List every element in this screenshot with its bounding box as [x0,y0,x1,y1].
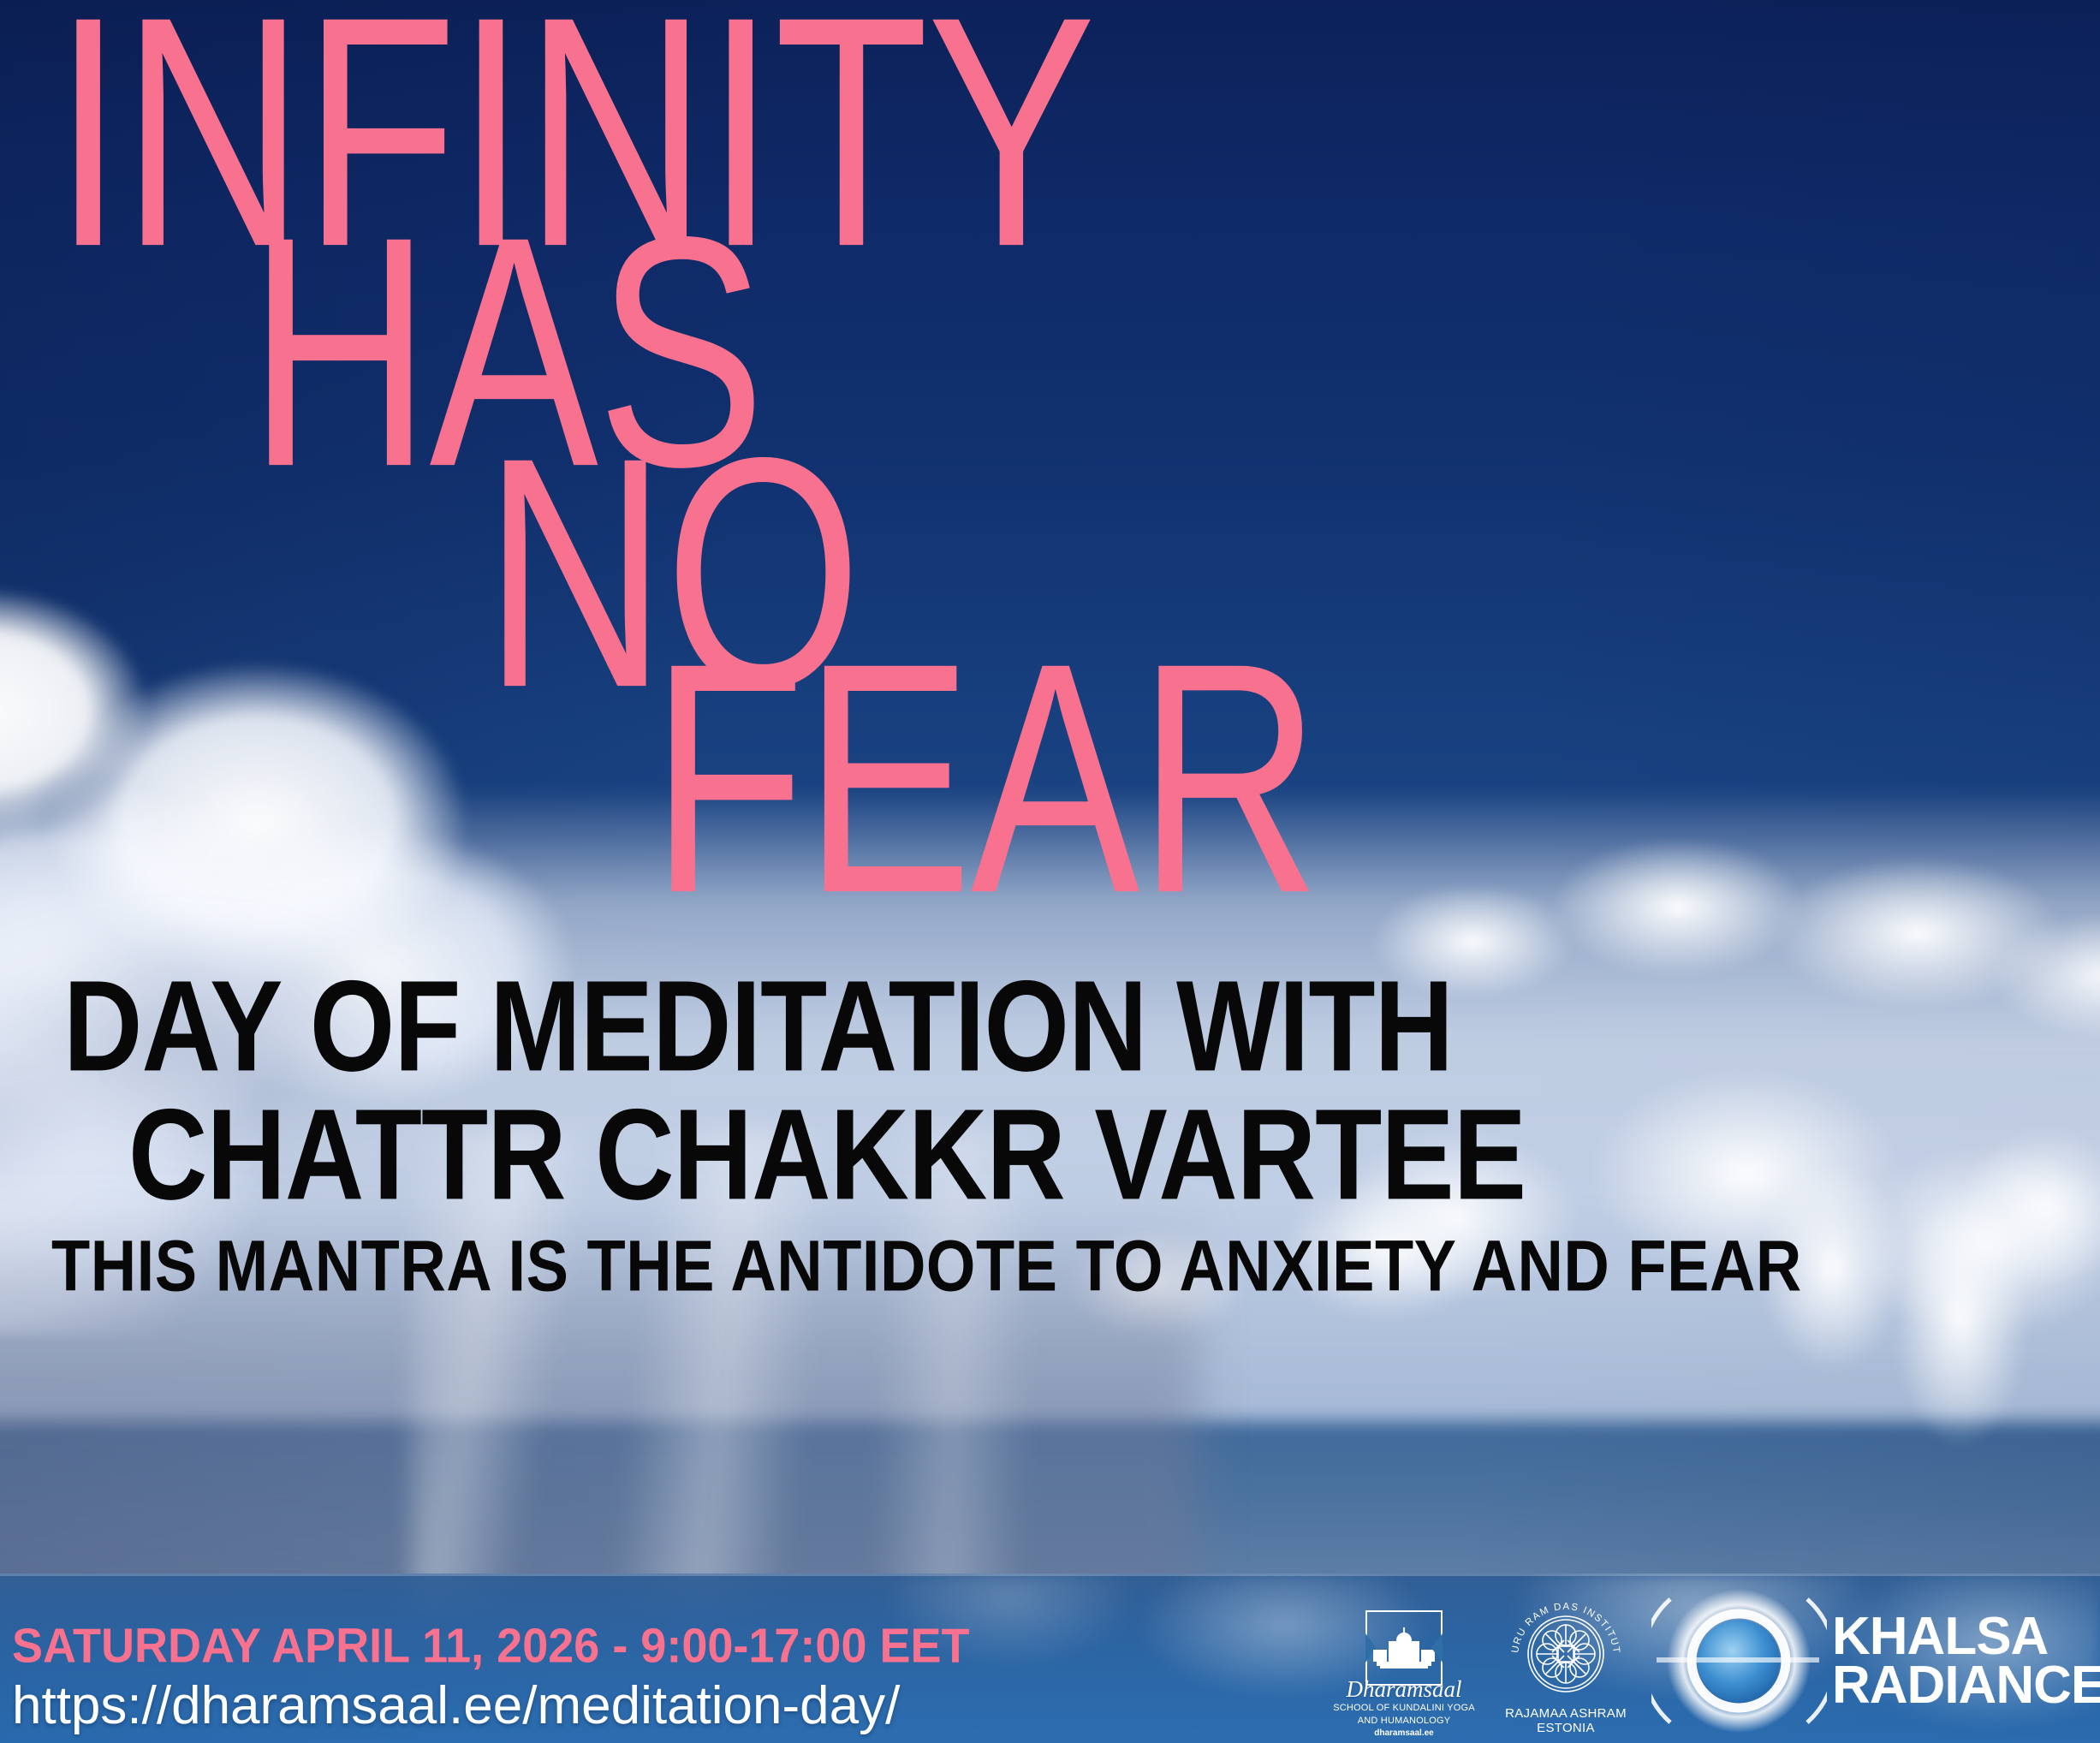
logo-dharamsaal-subtitle-2: AND HUMANOLOGY [1358,1716,1451,1727]
event-datetime: SATURDAY APRIL 11, 2026 - 9:00-17:00 EET [12,1618,970,1674]
event-title-line-2: CHATTR CHAKKR VARTEE [128,1096,1526,1215]
event-title-line-1: DAY OF MEDITATION WITH [63,967,1453,1086]
logo-guru-ram-das-institute[interactable]: GURU RAM DAS INSTITUTE [1480,1582,1651,1743]
logo-grd-subtitle-2: ESTONIA [1537,1722,1595,1736]
event-url-link[interactable]: https://dharamsaal.ee/meditation-day/ [12,1675,970,1736]
logo-khalsa-radiance[interactable]: KHALSA RADIANCE [1651,1582,2093,1743]
logo-dharamsaal-website: dharamsaal.ee [1374,1728,1434,1738]
headline-line-4: FEAR [651,651,1319,907]
event-tagline: THIS MANTRA IS THE ANTIDOTE TO ANXIETY A… [51,1233,1802,1300]
mandala-knot-icon: GURU RAM DAS INSTITUTE [1509,1597,1622,1710]
logo-khalsa-word-2: RADIANCE [1832,1661,2100,1710]
poster-canvas: INFINITY HAS NO FEAR DAY OF MEDITATION W… [0,0,2100,1743]
logo-khalsa-word-1: KHALSA [1832,1612,2100,1661]
logo-dharamsaal-subtitle-1: SCHOOL OF KUNDALINI YOGA [1333,1703,1475,1714]
radiant-orb-icon [1651,1580,1827,1741]
footer-text-block: SATURDAY APRIL 11, 2026 - 9:00-17:00 EET… [12,1621,970,1736]
sponsor-logo-row: Dharamsaal SCHOOL OF KUNDALINI YOGA AND … [1328,1573,2093,1743]
logo-dharamsaal[interactable]: Dharamsaal SCHOOL OF KUNDALINI YOGA AND … [1328,1582,1480,1743]
golden-temple-icon [1365,1610,1443,1686]
